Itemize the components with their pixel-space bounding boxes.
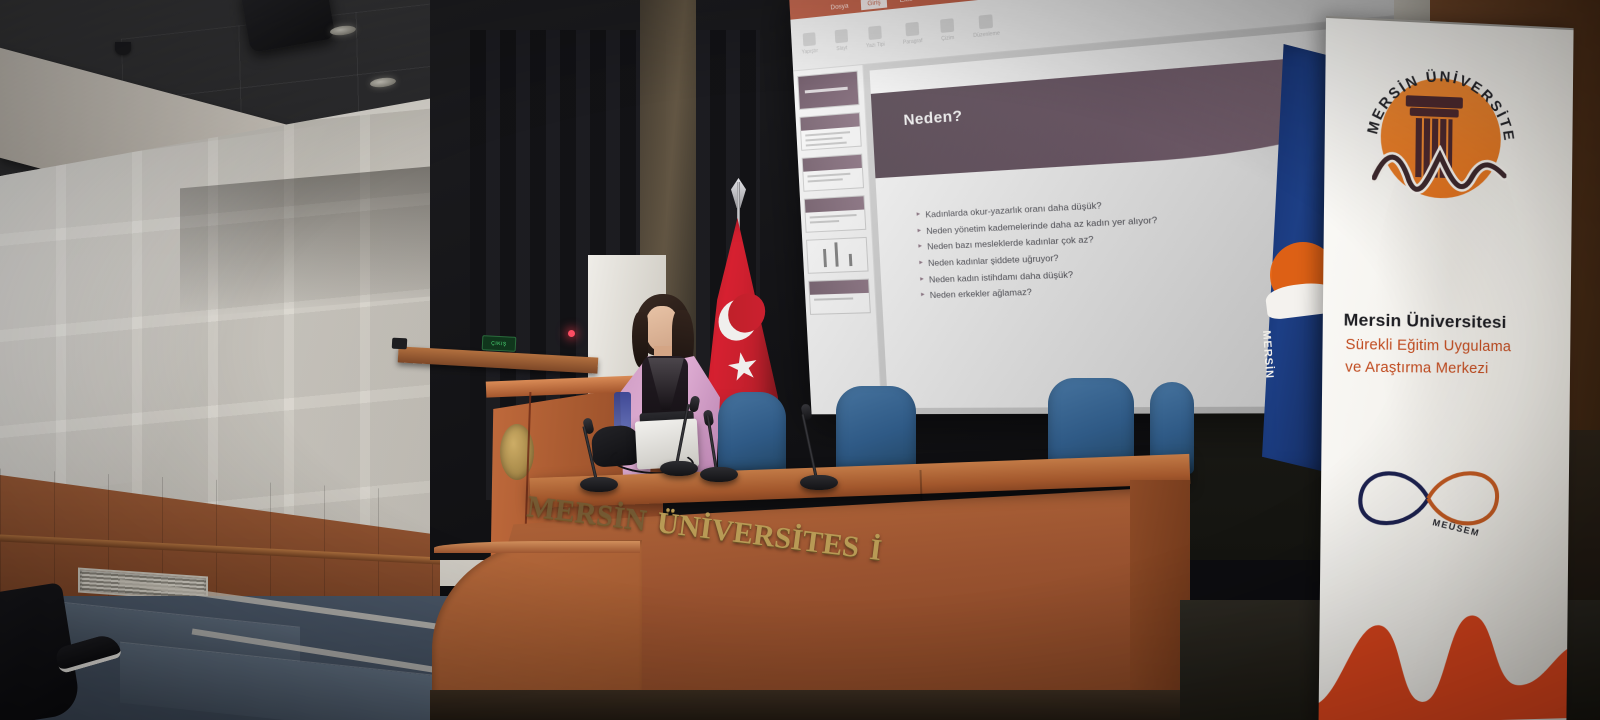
conference-hall-scene: Kadın Çalışmaları Sunum - PowerPoint Dos…: [0, 0, 1600, 720]
desk-letter: N: [623, 502, 649, 538]
microphone-neck: [675, 404, 690, 465]
paragraph-icon: [905, 21, 919, 36]
ribbon-group-label: Paragraf: [903, 37, 923, 45]
bullet-marker-icon: ▸: [920, 274, 924, 285]
paste-icon: [803, 32, 816, 46]
microphone-base: [580, 477, 618, 492]
microphone-base: [700, 467, 738, 482]
slide-bullet-text: Neden kadınlar şiddete uğruyor?: [928, 252, 1059, 268]
microphone-neck: [801, 414, 818, 479]
gooseneck-microphone: [800, 410, 842, 490]
bullet-marker-icon: ▸: [916, 210, 920, 221]
microphone-head-icon: [689, 395, 701, 412]
gooseneck-microphone: [700, 412, 740, 482]
slide-thumbnail[interactable]: [802, 154, 864, 192]
bullet-marker-icon: ▸: [921, 290, 925, 301]
ribbon-group-slayt[interactable]: Slayt: [834, 28, 848, 51]
ribbon-group-cizim[interactable]: Çizim: [940, 18, 955, 42]
ribbon-group-yazi-tipi[interactable]: Yazı Tipi: [865, 25, 885, 49]
banner-subtitle-line2: ve Araştırma Merkezi: [1345, 359, 1560, 378]
ribbon-group-label: Çizim: [941, 34, 954, 41]
desk-letter-space: [648, 505, 659, 506]
slide-bullet-text: Neden bazı mesleklerde kadınlar çok az?: [927, 234, 1094, 253]
wall-outlet-box: [392, 338, 408, 350]
infinity-logo-icon: [1345, 458, 1509, 540]
exit-sign: ÇIKIŞ: [482, 335, 517, 352]
ribbon-group-yapistir[interactable]: Yapıştır: [801, 32, 818, 56]
slide-thumbnail[interactable]: [797, 71, 859, 110]
desk-letter: İ: [868, 533, 884, 568]
rollup-banner: MERSİN ÜNİVERSİTESİ 1992 Mersin Üniversi…: [1318, 16, 1573, 720]
ribbon-group-label: Slayt: [836, 45, 847, 52]
bullet-marker-icon: ▸: [917, 226, 921, 237]
bullet-marker-icon: ▸: [918, 242, 922, 253]
banner-surface: MERSİN ÜNİVERSİTESİ 1992 Mersin Üniversi…: [1318, 16, 1573, 720]
tab-dosya[interactable]: Dosya: [830, 2, 848, 11]
edit-icon: [979, 14, 993, 29]
exit-sign-label: ÇIKIŞ: [491, 340, 507, 347]
tab-giris[interactable]: Giriş: [861, 0, 887, 10]
logo-ring-text: MERSİN ÜNİVERSİTESİ 1992: [1359, 54, 1521, 220]
slide-thumbnail[interactable]: [806, 237, 869, 274]
desk-letter-space: [861, 531, 872, 532]
laser-pointer-dot: [568, 330, 575, 337]
banner-subtitle-line1: Sürekli Eğitim Uygulama: [1345, 337, 1560, 356]
shapes-icon: [940, 18, 954, 33]
slide-bullet-text: Neden kadın istihdamı daha düşük?: [929, 268, 1074, 284]
svg-text:MERSİN ÜNİVERSİTESİ 1992: MERSİN ÜNİVERSİTESİ 1992: [1359, 54, 1517, 143]
ribbon-group-paragraf[interactable]: Paragraf: [902, 21, 923, 45]
banner-orange-wave: [1319, 588, 1568, 720]
slide-bullet-text: Neden erkekler ağlamaz?: [929, 287, 1032, 301]
university-logo: MERSİN ÜNİVERSİTESİ 1992: [1359, 54, 1521, 220]
panel-chair: [836, 386, 916, 476]
ribbon-group-label: Yapıştır: [802, 48, 819, 56]
tab-ekle[interactable]: Ekle: [900, 0, 913, 4]
ribbon-group-label: Düzenleme: [973, 30, 1000, 39]
ribbon-group-duzenleme[interactable]: Düzenleme: [972, 13, 1000, 39]
ribbon-group-label: Yazı Tipi: [866, 41, 885, 49]
stage-floor: [430, 690, 1190, 720]
security-camera-icon: [115, 42, 131, 55]
slide-thumbnail[interactable]: [808, 279, 871, 315]
slide-thumbnail[interactable]: [799, 112, 861, 151]
desk-letter: S: [840, 529, 861, 565]
banner-title: Mersin Üniversitesi: [1344, 310, 1559, 334]
font-icon: [868, 25, 882, 39]
microphone-base: [660, 461, 698, 476]
microphone-base: [800, 475, 838, 490]
gooseneck-microphone: [660, 400, 700, 476]
bullet-marker-icon: ▸: [919, 258, 923, 269]
logo-ring-label: MERSİN ÜNİVERSİTESİ 1992: [1359, 54, 1517, 143]
new-slide-icon: [834, 28, 847, 42]
tab-tasarim[interactable]: Tasarım: [926, 0, 950, 1]
microphone-neck: [582, 426, 598, 481]
gooseneck-microphone: [580, 420, 620, 492]
slide-thumbnail[interactable]: [804, 195, 866, 233]
